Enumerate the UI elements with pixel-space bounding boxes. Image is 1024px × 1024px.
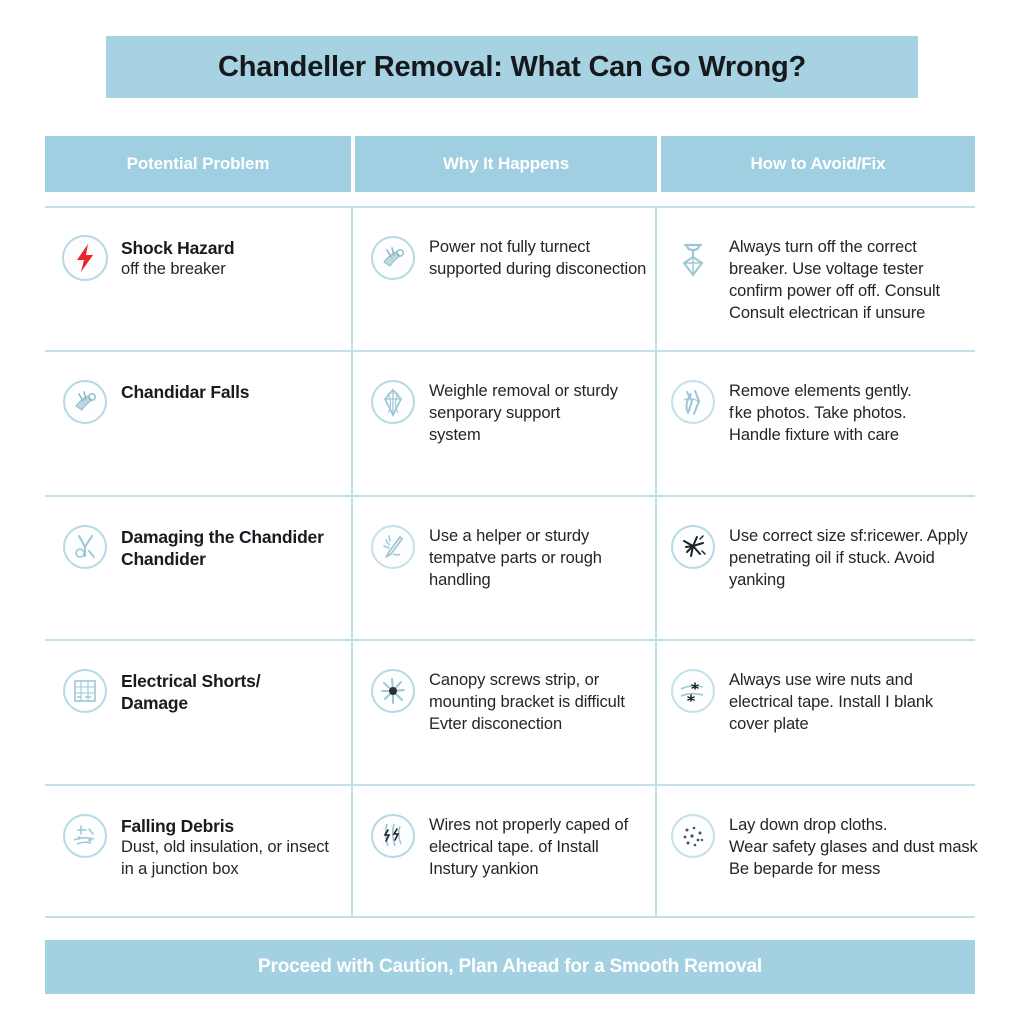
table-header-row: Potential Problem Why It Happens How to … <box>45 136 975 192</box>
why-line: Canopy screws strip, or <box>429 670 655 692</box>
cell-why-it-happens: Use a helper or sturdy tempatve parts or… <box>351 497 655 639</box>
cell-text: Use a helper or sturdy tempatve parts or… <box>429 521 655 592</box>
why-line: supported during disconection <box>429 259 655 281</box>
fix-line: Always use wire nuts and <box>729 670 975 692</box>
header-label: Why It Happens <box>443 154 569 174</box>
fix-line: breaker. Use voltage tester <box>729 259 975 281</box>
fix-line: f ke photos. Take photos. <box>729 403 975 425</box>
problem-title: Electrical Shorts/ <box>121 670 351 692</box>
problem-title-line2: Chandider <box>121 548 351 570</box>
fix-line: Use correct size sf:ricewer. Apply <box>729 526 975 548</box>
wire-nuts-icon <box>667 665 719 717</box>
cell-why-it-happens: Canopy screws strip, or mounting bracket… <box>351 641 655 784</box>
why-line: senporary support <box>429 403 655 425</box>
junction-box-icon <box>59 665 111 717</box>
screwdriver-spark-icon <box>367 521 419 573</box>
fix-line: Consult electrican if unsure <box>729 303 975 325</box>
page-title: Chandeller Removal: What Can Go Wrong? <box>218 51 806 84</box>
table-row: Falling Debris Dust, old insulation, or … <box>45 784 975 918</box>
debris-dust-icon <box>59 810 111 862</box>
problem-subtitle: Dust, old insulation, or insect <box>121 837 351 858</box>
cell-how-to-avoid-fix: Always turn off the correct breaker. Use… <box>655 208 975 350</box>
cell-potential-problem: Electrical Shorts/ Damage <box>45 641 351 784</box>
header-label: Potential Problem <box>127 154 270 174</box>
wires-spark-icon <box>367 810 419 862</box>
fix-line: Always turn off the correct <box>729 237 975 259</box>
header-cell-how-to-avoid-fix: How to Avoid/Fix <box>661 136 975 192</box>
footer-text: Proceed with Caution, Plan Ahead for a S… <box>258 956 762 978</box>
chandelier-pendant-icon <box>667 232 719 284</box>
table-row: Electrical Shorts/ Damage Canopy screws … <box>45 639 975 784</box>
cell-how-to-avoid-fix: Lay down drop cloths. Wear safety glases… <box>655 786 975 916</box>
cell-how-to-avoid-fix: Use correct size sf:ricewer. Apply penet… <box>655 497 975 639</box>
table-body: Shock Hazard off the breaker Power not f… <box>45 206 975 918</box>
why-line: Wires not properly caped of <box>429 815 655 837</box>
table-row: Damaging the Chandider Chandider Use a h… <box>45 495 975 639</box>
fix-line: cover plate <box>729 714 975 736</box>
why-line: Instury yankion <box>429 859 655 881</box>
problem-title: Damaging the Chandider <box>121 526 351 548</box>
cell-potential-problem: Falling Debris Dust, old insulation, or … <box>45 786 351 916</box>
fix-line: Remove elements gently. <box>729 381 975 403</box>
chandelier-globe-icon <box>367 376 419 428</box>
cell-text: Lay down drop cloths. Wear safety glases… <box>729 810 975 881</box>
problem-subtitle-line2: in a junction box <box>121 859 351 880</box>
header-cell-why-it-happens: Why It Happens <box>355 136 657 192</box>
cell-text: Damaging the Chandider Chandider <box>121 521 351 571</box>
fix-line: penetrating oil if stuck. Avoid <box>729 548 975 570</box>
lightning-bolt-icon <box>59 232 111 284</box>
problem-subtitle: off the breaker <box>121 259 351 280</box>
table-row: Shock Hazard off the breaker Power not f… <box>45 206 975 350</box>
infographic-page: Chandeller Removal: What Can Go Wrong? P… <box>0 0 1024 1024</box>
title-band: Chandeller Removal: What Can Go Wrong? <box>106 36 918 98</box>
cell-how-to-avoid-fix: Remove elements gently. f ke photos. Tak… <box>655 352 975 495</box>
why-line: mounting bracket is difficult <box>429 692 655 714</box>
fix-line: Handle fixture with care <box>729 425 975 447</box>
cell-potential-problem: Chandidar Falls <box>45 352 351 495</box>
why-line: Evter disconection <box>429 714 655 736</box>
header-cell-potential-problem: Potential Problem <box>45 136 351 192</box>
fix-line: yanking <box>729 570 975 592</box>
footer-band: Proceed with Caution, Plan Ahead for a S… <box>45 940 975 994</box>
cell-text: Remove elements gently. f ke photos. Tak… <box>729 376 975 447</box>
broken-glass-icon <box>667 376 719 428</box>
cell-how-to-avoid-fix: Always use wire nuts and electrical tape… <box>655 641 975 784</box>
why-line: Weighle removal or sturdy <box>429 381 655 403</box>
hand-spark-icon <box>59 376 111 428</box>
problem-title: Shock Hazard <box>121 237 351 259</box>
cell-text: Always turn off the correct breaker. Use… <box>729 232 975 325</box>
table-row: Chandidar Falls Weighle removal or sturd… <box>45 350 975 495</box>
why-line: system <box>429 425 655 447</box>
header-label: How to Avoid/Fix <box>750 154 885 174</box>
cell-text: Weighle removal or sturdy senporary supp… <box>429 376 655 447</box>
cell-text: Power not fully turnect supported during… <box>429 232 655 281</box>
cell-potential-problem: Damaging the Chandider Chandider <box>45 497 351 639</box>
dust-particles-icon <box>667 810 719 862</box>
fix-line: Be beparde for mess <box>729 859 975 881</box>
cell-text: Use correct size sf:ricewer. Apply penet… <box>729 521 975 592</box>
problem-title: Chandidar Falls <box>121 381 351 403</box>
why-line: handling <box>429 570 655 592</box>
fix-line: confirm power off off. Consult <box>729 281 975 303</box>
why-line: electrical tape. of Install <box>429 837 655 859</box>
cell-text: Wires not properly caped of electrical t… <box>429 810 655 881</box>
cell-why-it-happens: Power not fully turnect supported during… <box>351 208 655 350</box>
problem-title-line2: Damage <box>121 692 351 714</box>
cell-potential-problem: Shock Hazard off the breaker <box>45 208 351 350</box>
why-line: Power not fully turnect <box>429 237 655 259</box>
problem-title: Falling Debris <box>121 815 351 837</box>
fix-line: electrical tape. Install I blank <box>729 692 975 714</box>
crack-burst-icon <box>667 521 719 573</box>
broken-fixture-icon <box>59 521 111 573</box>
spark-burst-icon <box>367 665 419 717</box>
cell-text: Electrical Shorts/ Damage <box>121 665 351 715</box>
hand-spark-icon <box>367 232 419 284</box>
cell-text: Shock Hazard off the breaker <box>121 232 351 281</box>
cell-why-it-happens: Weighle removal or sturdy senporary supp… <box>351 352 655 495</box>
fix-line: Wear safety glases and dust mask <box>729 837 975 859</box>
cell-text: Chandidar Falls <box>121 376 351 403</box>
cell-why-it-happens: Wires not properly caped of electrical t… <box>351 786 655 916</box>
cell-text: Always use wire nuts and electrical tape… <box>729 665 975 736</box>
cell-text: Falling Debris Dust, old insulation, or … <box>121 810 351 880</box>
cell-text: Canopy screws strip, or mounting bracket… <box>429 665 655 736</box>
why-line: Use a helper or sturdy <box>429 526 655 548</box>
fix-line: Lay down drop cloths. <box>729 815 975 837</box>
why-line: tempatve parts or rough <box>429 548 655 570</box>
